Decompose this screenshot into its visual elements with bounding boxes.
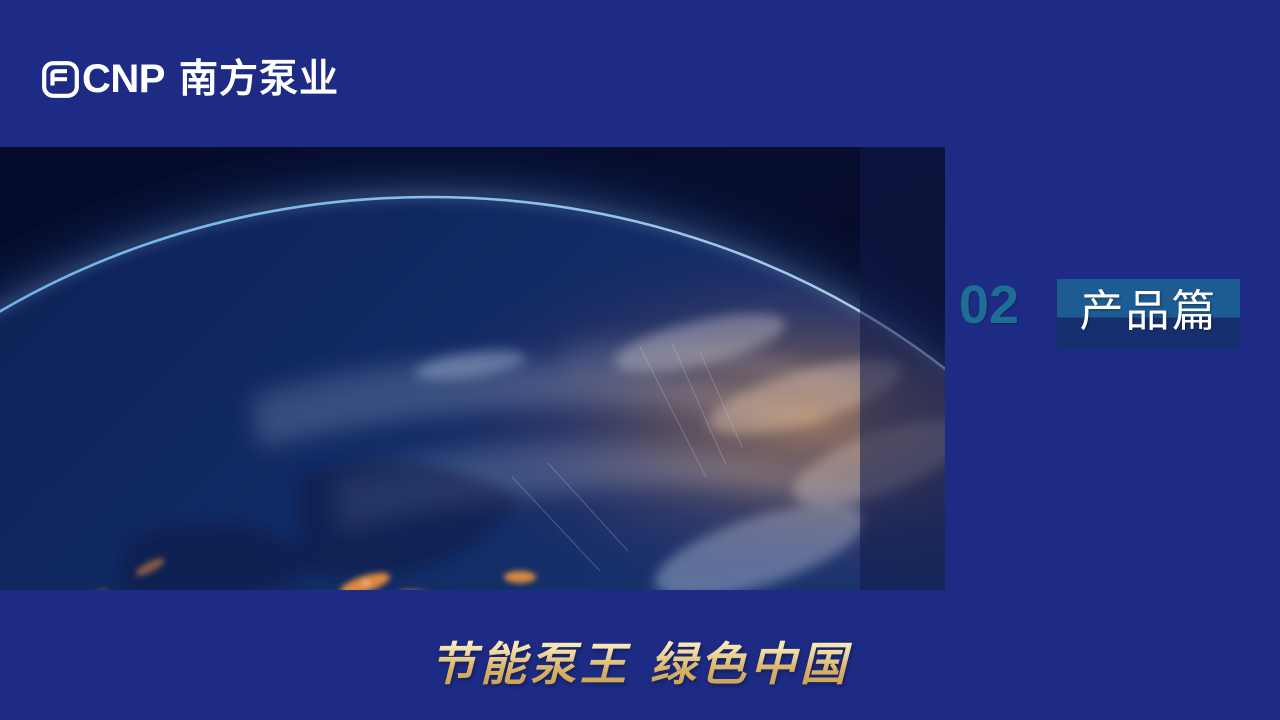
slide-header: CNP 南方泵业 — [0, 0, 1280, 147]
hero-earth-image — [0, 147, 945, 590]
slide-footer: 节能泵王 绿色中国 — [0, 590, 1280, 720]
footer-tagline: 节能泵王 绿色中国 — [0, 628, 1280, 694]
brand-logo: CNP 南方泵业 — [42, 54, 339, 104]
logo-latin-text: CNP — [82, 59, 165, 99]
section-title: 产品篇 — [1057, 272, 1240, 342]
section-number: 02 — [959, 278, 1019, 332]
presentation-slide: CNP 南方泵业 — [0, 0, 1280, 720]
section-marker-panel: 02 产品篇 — [945, 147, 1280, 590]
logo-chinese-text: 南方泵业 — [179, 60, 339, 99]
cnp-monogram-icon — [42, 61, 79, 98]
